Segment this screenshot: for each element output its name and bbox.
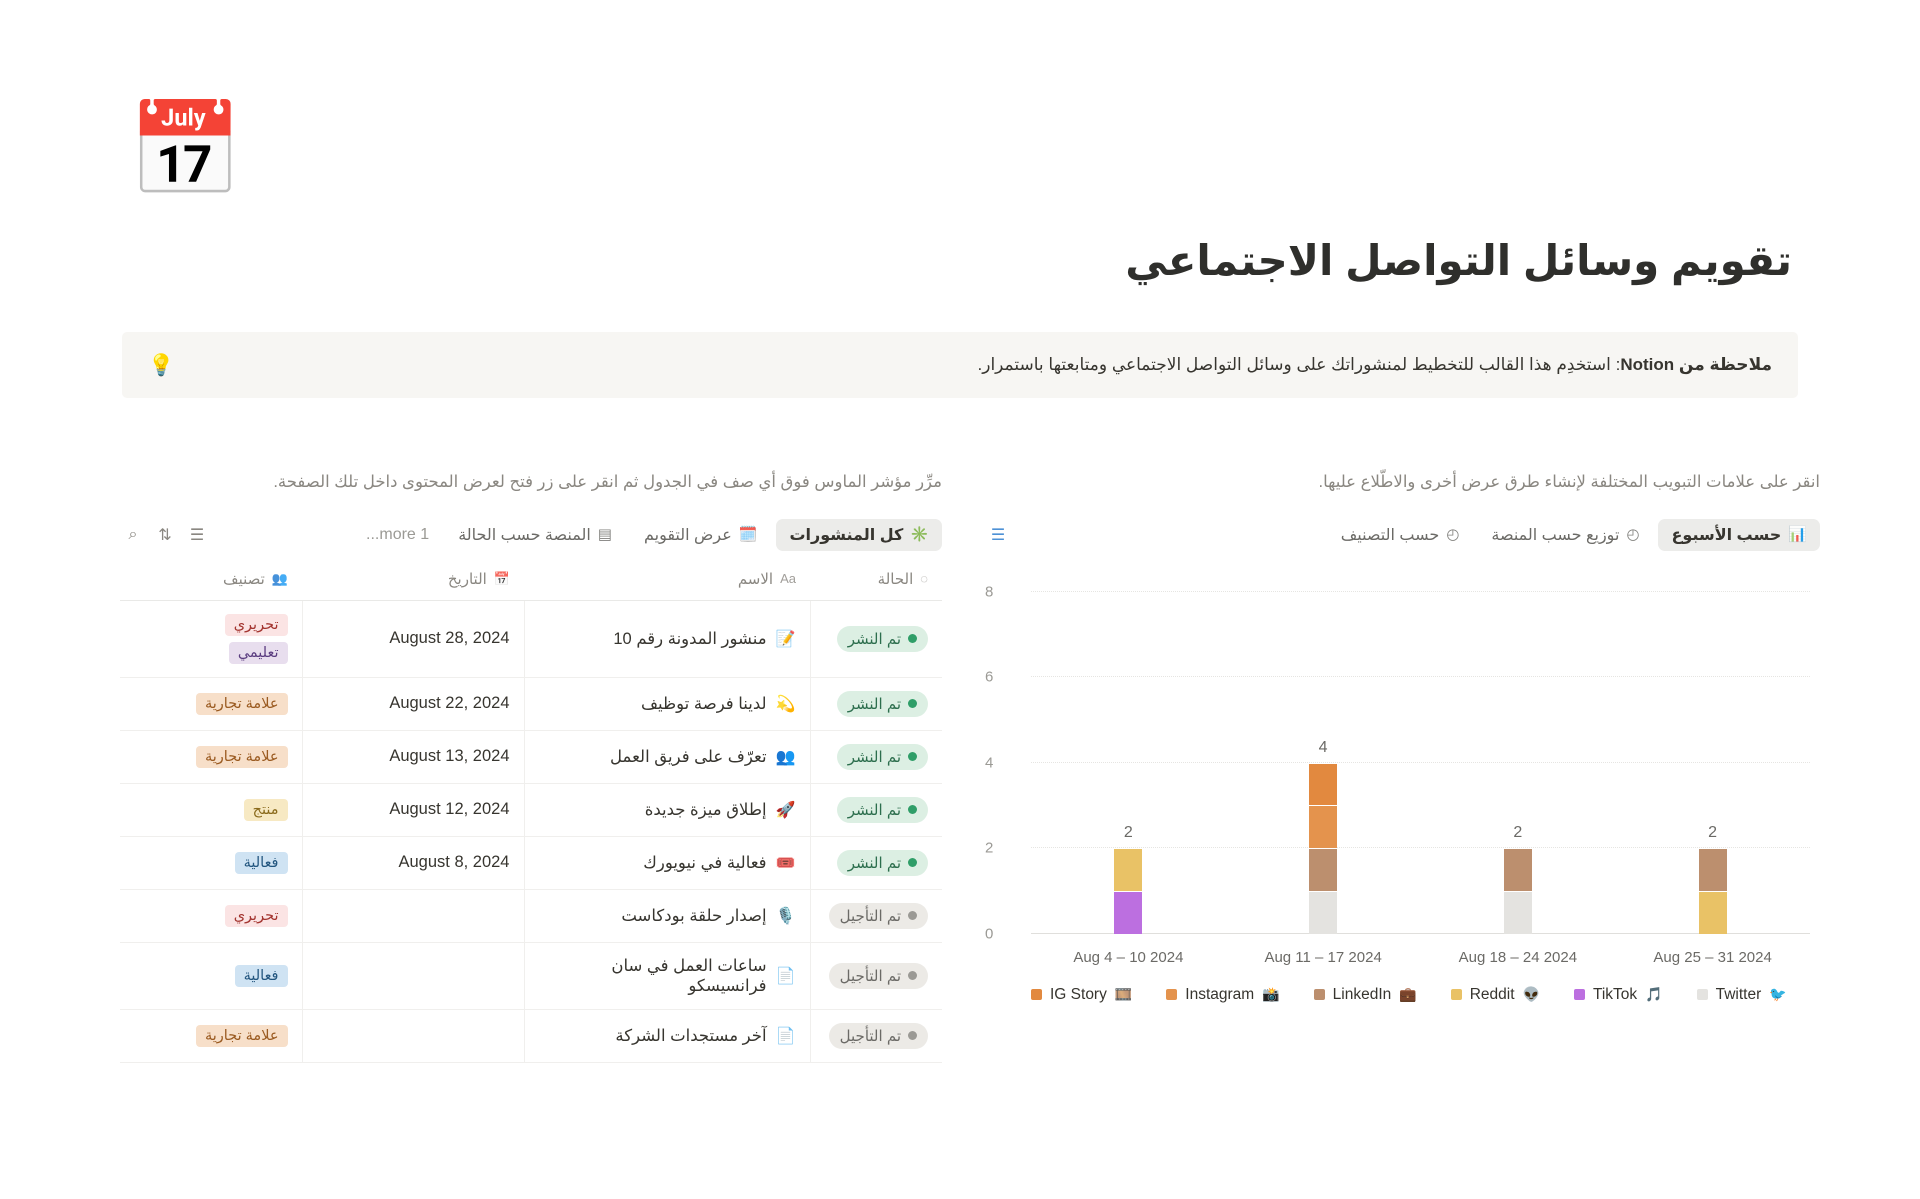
category-tag: فعالية — [235, 965, 288, 987]
legend-label: LinkedIn — [1333, 986, 1392, 1004]
tab-by-week-label: حسب الأسبوع — [1671, 525, 1781, 545]
legend-label: Reddit — [1470, 986, 1515, 1004]
table-row[interactable]: تم النشر💫لدينا فرصة توظيفAugust 22, 2024… — [120, 677, 942, 730]
column-header-date-label: التاريخ — [448, 570, 487, 588]
row-emoji-icon: 📝 — [776, 629, 796, 649]
row-emoji-icon: 📄 — [776, 1026, 796, 1046]
column-header-date[interactable]: 📅التاريخ — [302, 562, 524, 601]
status-label: تم النشر — [848, 748, 901, 766]
tag-stack: تحريريتعليمي — [134, 614, 288, 664]
column-header-category[interactable]: 👥تصنيف — [120, 562, 302, 601]
tag-stack: علامة تجارية — [134, 1025, 288, 1047]
status-label: تم النشر — [848, 854, 901, 872]
cell-category[interactable]: منتج — [120, 783, 302, 836]
column-header-category-label: تصنيف — [223, 570, 265, 588]
cell-category[interactable]: تحريري — [120, 889, 302, 942]
status-badge: تم التأجيل — [829, 963, 928, 989]
name-cell: 📝منشور المدونة رقم 10 — [539, 629, 796, 649]
date-value: August 28, 2024 — [389, 629, 509, 647]
tab-all-posts[interactable]: ✳️ كل المنشورات — [776, 519, 942, 551]
status-badge: تم النشر — [837, 691, 928, 717]
status-dot — [908, 1031, 917, 1040]
chart-bar-segment-twitter — [1309, 891, 1337, 934]
chart-x-tick: Aug 18 – 24 2024 — [1421, 949, 1616, 966]
chart-x-tick: Aug 25 – 31 2024 — [1615, 949, 1810, 966]
category-tag: علامة تجارية — [196, 746, 288, 768]
table-row[interactable]: تم التأجيل🎙️إصدار حلقة بودكاستتحريري — [120, 889, 942, 942]
legend-emoji-icon: 👽 — [1523, 986, 1540, 1003]
legend-label: IG Story — [1050, 986, 1107, 1004]
status-dot — [908, 752, 917, 761]
tab-calendar-view-label: عرض التقويم — [644, 525, 732, 545]
name-cell: 📄ساعات العمل في سان فرانسيسكو — [539, 956, 796, 996]
tab-platform-by-status-label: المنصة حسب الحالة — [458, 525, 591, 545]
name-cell: 👥تعرّف على فريق العمل — [539, 747, 796, 767]
name-cell: 📄آخر مستجدات الشركة — [539, 1026, 796, 1046]
chart-bar-group[interactable]: 4 — [1226, 592, 1421, 934]
chart-bar-total-label: 4 — [1319, 739, 1328, 757]
chart-bar-total-label: 2 — [1124, 824, 1133, 842]
table-row[interactable]: تم النشر🚀إطلاق ميزة جديدةAugust 12, 2024… — [120, 783, 942, 836]
chart-x-tick: Aug 4 – 10 2024 — [1031, 949, 1226, 966]
legend-item[interactable]: IG Story🎞️ — [1031, 986, 1132, 1004]
calendar-view-icon: 🗓️ — [739, 527, 758, 542]
legend-swatch — [1697, 989, 1708, 1000]
date-value: August 8, 2024 — [398, 853, 509, 871]
cell-status[interactable]: تم النشر — [810, 600, 942, 677]
chart-filter-icon[interactable]: ☰ — [985, 522, 1011, 548]
cell-status[interactable]: تم التأجيل — [810, 889, 942, 942]
category-tag: علامة تجارية — [196, 1025, 288, 1047]
status-icon: ◌ — [920, 571, 928, 586]
row-title: منشور المدونة رقم 10 — [613, 629, 766, 649]
page-title: تقويم وسائل التواصل الاجتماعي — [392, 236, 1792, 285]
legend-item[interactable]: TikTok🎵 — [1574, 986, 1663, 1004]
status-badge: تم النشر — [837, 797, 928, 823]
chart-y-tick: 8 — [985, 583, 1021, 600]
name-cell: 🚀إطلاق ميزة جديدة — [539, 800, 796, 820]
date-value: August 13, 2024 — [389, 747, 509, 765]
legend-emoji-icon: 📸 — [1262, 986, 1279, 1003]
status-label: تم النشر — [848, 695, 901, 713]
chart-bar-segment-reddit — [1699, 891, 1727, 934]
tag-stack: علامة تجارية — [134, 693, 288, 715]
cell-category[interactable]: علامة تجارية — [120, 677, 302, 730]
text-type-icon: Aa — [780, 571, 796, 586]
chart-y-tick: 2 — [985, 840, 1021, 857]
date-value: August 22, 2024 — [389, 694, 509, 712]
name-cell: 🎙️إصدار حلقة بودكاست — [539, 906, 796, 926]
chart-bar-segment-reddit — [1114, 848, 1142, 891]
table-clip: ◌الحالة Aaالاسم 📅التاريخ 👥تصنيف تم ال — [120, 552, 942, 1063]
cell-name[interactable]: 🎙️إصدار حلقة بودكاست — [524, 889, 810, 942]
page-root: 📅 تقويم وسائل التواصل الاجتماعي 💡 ملاحظة… — [0, 0, 1920, 1199]
chart-bar-total-label: 2 — [1513, 824, 1522, 842]
table-row[interactable]: تم التأجيل📄ساعات العمل في سان فرانسيسكوف… — [120, 942, 942, 1009]
legend-item[interactable]: Instagram📸 — [1166, 986, 1279, 1004]
row-emoji-icon: 📄 — [776, 966, 796, 986]
chart-bar-segment-tiktok — [1114, 891, 1142, 934]
table-row[interactable]: تم النشر👥تعرّف على فريق العملAugust 13, … — [120, 730, 942, 783]
tab-by-platform[interactable]: ◴ توزيع حسب المنصة — [1478, 519, 1652, 551]
date-value: August 12, 2024 — [389, 800, 509, 818]
legend-label: TikTok — [1593, 986, 1637, 1004]
table-row[interactable]: تم النشر🎟️فعالية في نيويوركAugust 8, 202… — [120, 836, 942, 889]
chart-bar-segment-twitter — [1504, 891, 1532, 934]
cell-category[interactable]: تحريريتعليمي — [120, 600, 302, 677]
cell-status[interactable]: تم النشر — [810, 677, 942, 730]
row-title: فعالية في نيويورك — [643, 853, 766, 873]
tab-all-posts-label: كل المنشورات — [789, 525, 903, 545]
more-views-button[interactable]: 1 more... — [356, 520, 439, 550]
status-badge: تم التأجيل — [829, 1023, 928, 1049]
table-view-tabs: ✳️ كل المنشورات 🗓️ عرض التقويم ▤ المنصة … — [120, 518, 942, 552]
cell-name[interactable]: 🚀إطلاق ميزة جديدة — [524, 783, 810, 836]
row-title: إطلاق ميزة جديدة — [645, 800, 767, 820]
status-label: تم النشر — [848, 630, 901, 648]
calendar-icon: 📅 — [494, 571, 510, 587]
legend-label: Instagram — [1185, 986, 1254, 1004]
callout-body: : استخدِم هذا القالب للتخطيط لمنشوراتك ع… — [978, 355, 1621, 374]
row-emoji-icon: 🎙️ — [776, 906, 796, 926]
weekly-stacked-bar-chart: 2422 02468 Aug 4 – 10 2024Aug 11 – 17 20… — [985, 578, 1820, 978]
chart-bar-group[interactable]: 2 — [1615, 592, 1810, 934]
status-dot — [908, 911, 917, 920]
chart-bar-segment-linkedin — [1309, 848, 1337, 891]
tab-platform-by-status[interactable]: ▤ المنصة حسب الحالة — [445, 519, 625, 551]
status-label: تم النشر — [848, 801, 901, 819]
cell-category[interactable]: علامة تجارية — [120, 1009, 302, 1062]
tab-calendar-view[interactable]: 🗓️ عرض التقويم — [631, 519, 770, 551]
column-header-name[interactable]: Aaالاسم — [524, 562, 810, 601]
cell-name[interactable]: 👥تعرّف على فريق العمل — [524, 730, 810, 783]
cell-date[interactable]: August 28, 2024 — [302, 600, 524, 677]
cell-name[interactable]: 📄ساعات العمل في سان فرانسيسكو — [524, 942, 810, 1009]
category-tag: علامة تجارية — [196, 693, 288, 715]
lightbulb-icon: 💡 — [148, 355, 174, 376]
callout-text: ملاحظة من Notion: استخدِم هذا القالب للت… — [174, 352, 1772, 378]
chart-stacked-bar[interactable]: 2 — [1114, 848, 1142, 934]
status-badge: تم النشر — [837, 626, 928, 652]
table-header: ◌الحالة Aaالاسم 📅التاريخ 👥تصنيف — [120, 562, 942, 601]
category-tag: منتج — [244, 799, 288, 821]
chart-bar-segment-linkedin — [1504, 848, 1532, 891]
status-label: تم التأجيل — [840, 967, 901, 985]
cell-status[interactable]: تم التأجيل — [810, 942, 942, 1009]
row-title: لدينا فرصة توظيف — [641, 694, 767, 714]
chart-plot-area: 2422 — [1031, 592, 1810, 934]
cell-date[interactable]: August 22, 2024 — [302, 677, 524, 730]
name-cell: 🎟️فعالية في نيويورك — [539, 853, 796, 873]
cell-name[interactable]: 📝منشور المدونة رقم 10 — [524, 600, 810, 677]
status-dot — [908, 634, 917, 643]
legend-swatch — [1451, 989, 1462, 1000]
cell-date[interactable] — [302, 1009, 524, 1062]
table-header-row: ◌الحالة Aaالاسم 📅التاريخ 👥تصنيف — [120, 562, 942, 601]
category-tag: فعالية — [235, 852, 288, 874]
cell-name[interactable]: 📄آخر مستجدات الشركة — [524, 1009, 810, 1062]
chart-view-tabs: 📊 حسب الأسبوع ◴ توزيع حسب المنصة ◴ حسب ا… — [985, 518, 1820, 552]
chart-stacked-bar[interactable]: 2 — [1699, 848, 1727, 934]
chart-bar-segment-linkedin — [1699, 848, 1727, 891]
status-badge: تم النشر — [837, 744, 928, 770]
status-dot — [908, 699, 917, 708]
column-header-status[interactable]: ◌الحالة — [810, 562, 942, 601]
tag-stack: علامة تجارية — [134, 746, 288, 768]
chart-x-tick: Aug 11 – 17 2024 — [1226, 949, 1421, 966]
row-emoji-icon: 👥 — [776, 747, 796, 767]
cell-name[interactable]: 💫لدينا فرصة توظيف — [524, 677, 810, 730]
filter-icon[interactable]: ☰ — [184, 522, 210, 548]
table-row[interactable]: تم التأجيل📄آخر مستجدات الشركةعلامة تجاري… — [120, 1009, 942, 1062]
status-dot — [908, 805, 917, 814]
tab-by-week[interactable]: 📊 حسب الأسبوع — [1658, 519, 1820, 551]
status-label: تم التأجيل — [840, 1027, 901, 1045]
column-header-status-label: الحالة — [878, 570, 914, 588]
cell-date[interactable]: August 8, 2024 — [302, 836, 524, 889]
tab-by-category-label: حسب التصنيف — [1341, 525, 1440, 545]
chart-stacked-bar[interactable]: 2 — [1504, 848, 1532, 934]
cell-category[interactable]: فعالية — [120, 942, 302, 1009]
legend-emoji-icon: 🎞️ — [1115, 986, 1132, 1003]
table-row[interactable]: تم النشر📝منشور المدونة رقم 10August 28, … — [120, 600, 942, 677]
chart-panel: انقر على علامات التبويب المختلفة لإنشاء … — [985, 470, 1820, 1004]
posts-table: ◌الحالة Aaالاسم 📅التاريخ 👥تصنيف تم ال — [120, 562, 942, 1063]
tag-stack: فعالية — [134, 965, 288, 987]
legend-item[interactable]: Twitter🐦 — [1697, 986, 1787, 1004]
tag-stack: فعالية — [134, 852, 288, 874]
legend-swatch — [1166, 989, 1177, 1000]
chart-stacked-bar[interactable]: 4 — [1309, 763, 1337, 934]
table-body: تم النشر📝منشور المدونة رقم 10August 28, … — [120, 600, 942, 1062]
pie-chart-icon: ◴ — [1626, 527, 1639, 542]
row-title: ساعات العمل في سان فرانسيسكو — [539, 956, 767, 996]
notion-note-callout: 💡 ملاحظة من Notion: استخدِم هذا القالب ل… — [122, 332, 1798, 398]
cell-name[interactable]: 🎟️فعالية في نيويورك — [524, 836, 810, 889]
chart-y-tick: 4 — [985, 754, 1021, 771]
chart-y-tick: 0 — [985, 925, 1021, 942]
table-panel: مرِّر مؤشر الماوس فوق أي صف في الجدول ثم… — [120, 470, 942, 1063]
legend-swatch — [1314, 989, 1325, 1000]
row-emoji-icon: 🚀 — [776, 800, 796, 820]
row-emoji-icon: 💫 — [776, 694, 796, 714]
asterisk-icon: ✳️ — [910, 527, 929, 542]
status-badge: تم النشر — [837, 850, 928, 876]
cell-date[interactable]: August 12, 2024 — [302, 783, 524, 836]
chart-bar-segment-instagram — [1309, 805, 1337, 848]
search-icon[interactable]: ⌕ — [120, 522, 146, 548]
calendar-emoji: 📅 — [128, 104, 243, 196]
category-tag: تحريري — [225, 614, 288, 636]
chart-bar-total-label: 2 — [1708, 824, 1717, 842]
cell-category[interactable]: فعالية — [120, 836, 302, 889]
legend-emoji-icon: 🐦 — [1769, 986, 1786, 1003]
chart-legend: IG Story🎞️Instagram📸LinkedIn💼Reddit👽TikT… — [985, 986, 1820, 1004]
legend-label: Twitter — [1716, 986, 1762, 1004]
category-tag: تحريري — [225, 905, 288, 927]
tag-stack: تحريري — [134, 905, 288, 927]
cell-category[interactable]: علامة تجارية — [120, 730, 302, 783]
chart-hint: انقر على علامات التبويب المختلفة لإنشاء … — [985, 470, 1820, 496]
cell-date[interactable] — [302, 889, 524, 942]
cell-status[interactable]: تم النشر — [810, 836, 942, 889]
legend-item[interactable]: Reddit👽 — [1451, 986, 1540, 1004]
legend-item[interactable]: LinkedIn💼 — [1314, 986, 1417, 1004]
chart-bars: 2422 — [1031, 592, 1810, 934]
pie-chart-icon-2: ◴ — [1446, 527, 1459, 542]
cell-date[interactable]: August 13, 2024 — [302, 730, 524, 783]
legend-emoji-icon: 🎵 — [1645, 986, 1662, 1003]
status-label: تم التأجيل — [840, 907, 901, 925]
category-tag: تعليمي — [229, 642, 288, 664]
status-badge: تم التأجيل — [829, 903, 928, 929]
board-icon: ▤ — [598, 527, 612, 542]
chart-x-axis: Aug 4 – 10 2024Aug 11 – 17 2024Aug 18 – … — [1031, 949, 1810, 966]
chart-bar-group[interactable]: 2 — [1421, 592, 1616, 934]
chart-bar-group[interactable]: 2 — [1031, 592, 1226, 934]
bar-chart-icon: 📊 — [1788, 527, 1807, 542]
cell-date[interactable] — [302, 942, 524, 1009]
cell-status[interactable]: تم التأجيل — [810, 1009, 942, 1062]
tab-by-category[interactable]: ◴ حسب التصنيف — [1328, 519, 1473, 551]
legend-swatch — [1574, 989, 1585, 1000]
status-dot — [908, 858, 917, 867]
callout-label: ملاحظة من Notion — [1620, 355, 1772, 374]
name-cell: 💫لدينا فرصة توظيف — [539, 694, 796, 714]
chart-bar-segment-ig-story — [1309, 763, 1337, 806]
row-title: إصدار حلقة بودكاست — [621, 906, 766, 926]
tab-by-platform-label: توزيع حسب المنصة — [1491, 525, 1619, 545]
people-icon: 👥 — [272, 571, 288, 587]
row-title: آخر مستجدات الشركة — [615, 1026, 766, 1046]
row-emoji-icon: 🎟️ — [776, 853, 796, 873]
table-hint: مرِّر مؤشر الماوس فوق أي صف في الجدول ثم… — [120, 470, 942, 496]
cell-status[interactable]: تم النشر — [810, 730, 942, 783]
sort-icon[interactable]: ⇅ — [152, 522, 178, 548]
column-header-name-label: الاسم — [738, 570, 773, 588]
status-dot — [908, 971, 917, 980]
legend-swatch — [1031, 989, 1042, 1000]
row-title: تعرّف على فريق العمل — [610, 747, 767, 767]
tag-stack: منتج — [134, 799, 288, 821]
legend-emoji-icon: 💼 — [1399, 986, 1416, 1003]
cell-status[interactable]: تم النشر — [810, 783, 942, 836]
chart-y-tick: 6 — [985, 669, 1021, 686]
